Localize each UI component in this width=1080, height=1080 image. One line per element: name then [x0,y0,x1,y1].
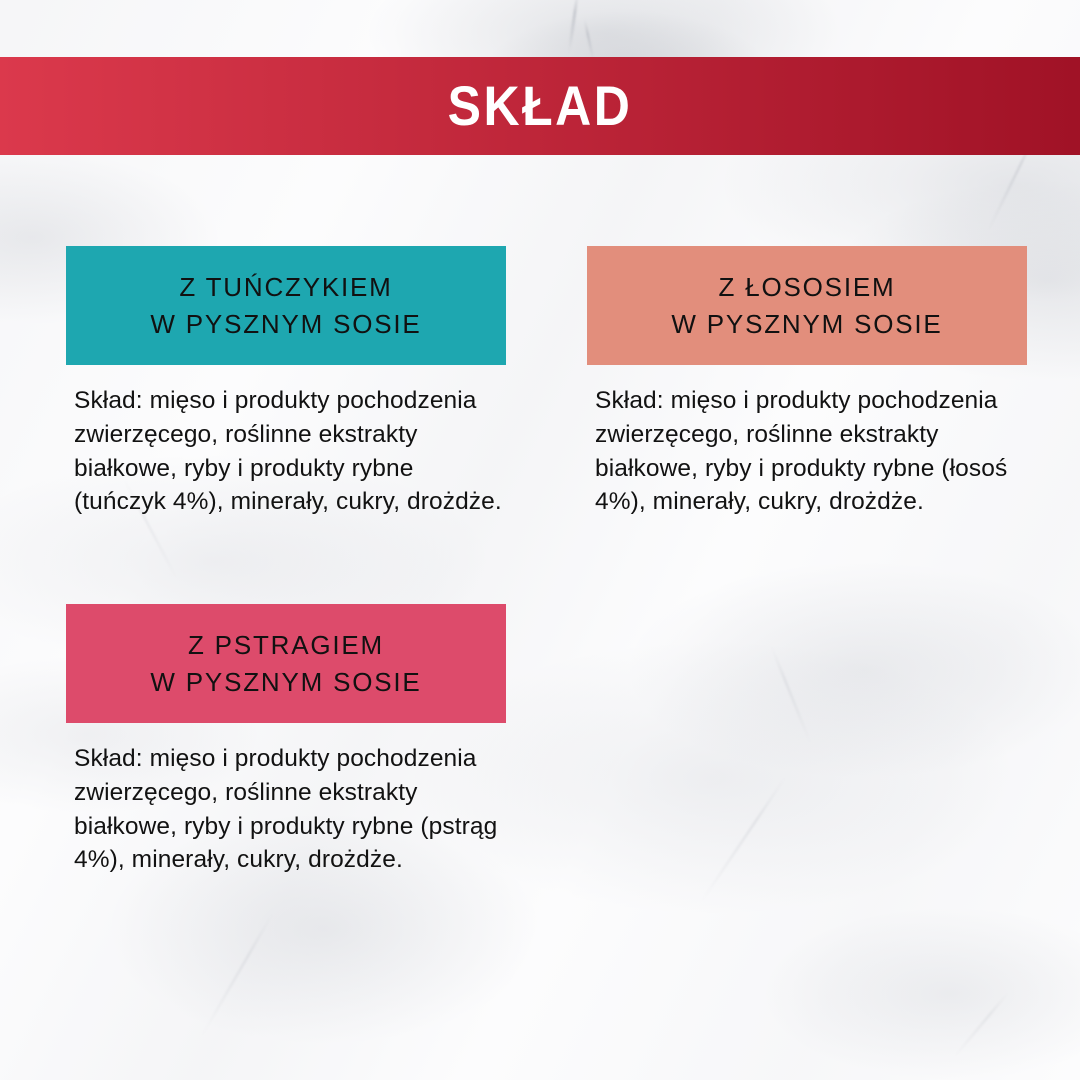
product-block-salmon: Z ŁOSOSIEM W PYSZNYM SOSIE Skład: mięso … [587,246,1027,519]
product-heading-trout: Z PSTRAGIEM W PYSZNYM SOSIE [66,604,506,723]
product-ingredients-trout: Skład: mięso i produkty pochodzenia zwie… [66,723,504,877]
product-heading-line2: W PYSZNYM SOSIE [150,664,421,701]
product-heading-tuna: Z TUŃCZYKIEM W PYSZNYM SOSIE [66,246,506,365]
product-heading-line2: W PYSZNYM SOSIE [150,306,421,343]
product-ingredients-tuna: Skład: mięso i produkty pochodzenia zwie… [66,365,504,519]
product-block-tuna: Z TUŃCZYKIEM W PYSZNYM SOSIE Skład: mięs… [66,246,506,519]
product-heading-salmon: Z ŁOSOSIEM W PYSZNYM SOSIE [587,246,1027,365]
product-ingredients-salmon: Skład: mięso i produkty pochodzenia zwie… [587,365,1045,519]
header-banner: SKŁAD [0,57,1080,155]
product-block-trout: Z PSTRAGIEM W PYSZNYM SOSIE Skład: mięso… [66,604,506,877]
page-title: SKŁAD [448,78,633,134]
product-heading-line1: Z ŁOSOSIEM [719,269,896,306]
marble-background [0,0,1080,1080]
product-heading-line1: Z TUŃCZYKIEM [179,269,392,306]
composition-infographic: SKŁAD Z TUŃCZYKIEM W PYSZNYM SOSIE Skład… [0,0,1080,1080]
product-heading-line2: W PYSZNYM SOSIE [671,306,942,343]
product-heading-line1: Z PSTRAGIEM [188,627,384,664]
